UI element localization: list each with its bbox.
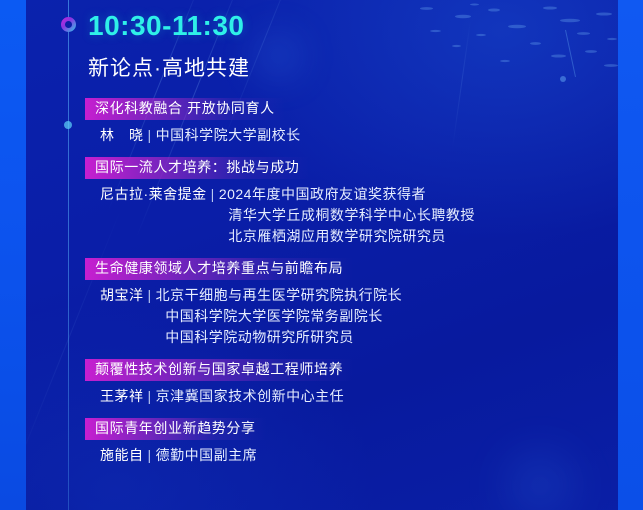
session-time: 10:30-11:30 [88,0,608,40]
topic-item[interactable]: 颠覆性技术创新与国家卓越工程师培养王茅祥|京津冀国家技术创新中心主任 [88,359,608,407]
speaker-separator: | [207,186,219,202]
topic-title: 生命健康领域人才培养重点与前瞻布局 [85,258,353,280]
topic-title: 国际一流人才培养：挑战与成功 [85,157,309,179]
speaker-block: 施能自|德勤中国副主席 [88,445,608,466]
speaker-affiliation: 清华大学丘成桐数学科学中心长聘教授 [228,207,475,223]
right-edge-strip [618,0,643,510]
speaker-affiliation: 京津冀国家技术创新中心主任 [156,388,345,404]
speaker-primary-line: 林 晓|中国科学院大学副校长 [100,125,608,146]
speaker-separator: | [144,447,156,463]
speaker-name: 林 晓 [100,127,144,143]
particle-dot [607,38,617,40]
topic-item[interactable]: 深化科教融合 开放协同育人林 晓|中国科学院大学副校长 [88,98,608,146]
speaker-separator: | [144,388,156,404]
speaker-affiliation: 中国科学院大学医学院常务副院长 [165,308,383,324]
timeline-ring-icon [61,17,76,32]
speaker-block: 林 晓|中国科学院大学副校长 [88,125,608,146]
topic-title: 颠覆性技术创新与国家卓越工程师培养 [85,359,353,381]
speaker-affiliation-line: 中国科学院动物研究所研究员 [100,327,608,348]
speaker-primary-line: 施能自|德勤中国副主席 [100,445,608,466]
speaker-primary-line: 胡宝洋|北京干细胞与再生医学研究院执行院长 [100,285,608,306]
speaker-block: 王茅祥|京津冀国家技术创新中心主任 [88,386,608,407]
left-edge-strip [0,0,26,510]
speaker-affiliation: 中国科学院大学副校长 [156,127,301,143]
session-content: 10:30-11:30 新论点·高地共建 深化科教融合 开放协同育人林 晓|中国… [88,0,608,477]
speaker-name: 王茅祥 [100,388,144,404]
speaker-affiliation-line: 清华大学丘成桐数学科学中心长聘教授 [100,205,608,226]
speaker-block: 尼古拉·莱舍提金|2024年度中国政府友谊奖获得者清华大学丘成桐数学科学中心长聘… [88,184,608,247]
timeline-line [68,0,69,510]
speaker-affiliation: 德勤中国副主席 [156,447,258,463]
speaker-affiliation-line: 中国科学院大学医学院常务副院长 [100,306,608,327]
speaker-affiliation: 北京干细胞与再生医学研究院执行院长 [156,287,403,303]
topic-title: 国际青年创业新趋势分享 [85,418,266,440]
speaker-affiliation: 北京雁栖湖应用数学研究院研究员 [228,228,446,244]
speaker-block: 胡宝洋|北京干细胞与再生医学研究院执行院长中国科学院大学医学院常务副院长中国科学… [88,285,608,348]
timeline-dot-icon [64,121,72,129]
speaker-separator: | [144,287,156,303]
agenda-slide: 10:30-11:30 新论点·高地共建 深化科教融合 开放协同育人林 晓|中国… [0,0,643,510]
topic-list: 深化科教融合 开放协同育人林 晓|中国科学院大学副校长国际一流人才培养：挑战与成… [88,98,608,466]
speaker-primary-line: 尼古拉·莱舍提金|2024年度中国政府友谊奖获得者 [100,184,608,205]
session-subtitle: 新论点·高地共建 [88,58,608,79]
speaker-primary-line: 王茅祥|京津冀国家技术创新中心主任 [100,386,608,407]
speaker-affiliation: 中国科学院动物研究所研究员 [165,329,354,345]
topic-title: 深化科教融合 开放协同育人 [85,98,285,120]
topic-item[interactable]: 国际青年创业新趋势分享施能自|德勤中国副主席 [88,418,608,466]
speaker-name: 胡宝洋 [100,287,144,303]
topic-item[interactable]: 生命健康领域人才培养重点与前瞻布局胡宝洋|北京干细胞与再生医学研究院执行院长中国… [88,258,608,348]
speaker-name: 施能自 [100,447,144,463]
speaker-separator: | [144,127,156,143]
speaker-affiliation-line: 北京雁栖湖应用数学研究院研究员 [100,226,608,247]
speaker-name: 尼古拉·莱舍提金 [100,186,207,202]
speaker-affiliation: 2024年度中国政府友谊奖获得者 [219,186,426,202]
topic-item[interactable]: 国际一流人才培养：挑战与成功尼古拉·莱舍提金|2024年度中国政府友谊奖获得者清… [88,157,608,247]
